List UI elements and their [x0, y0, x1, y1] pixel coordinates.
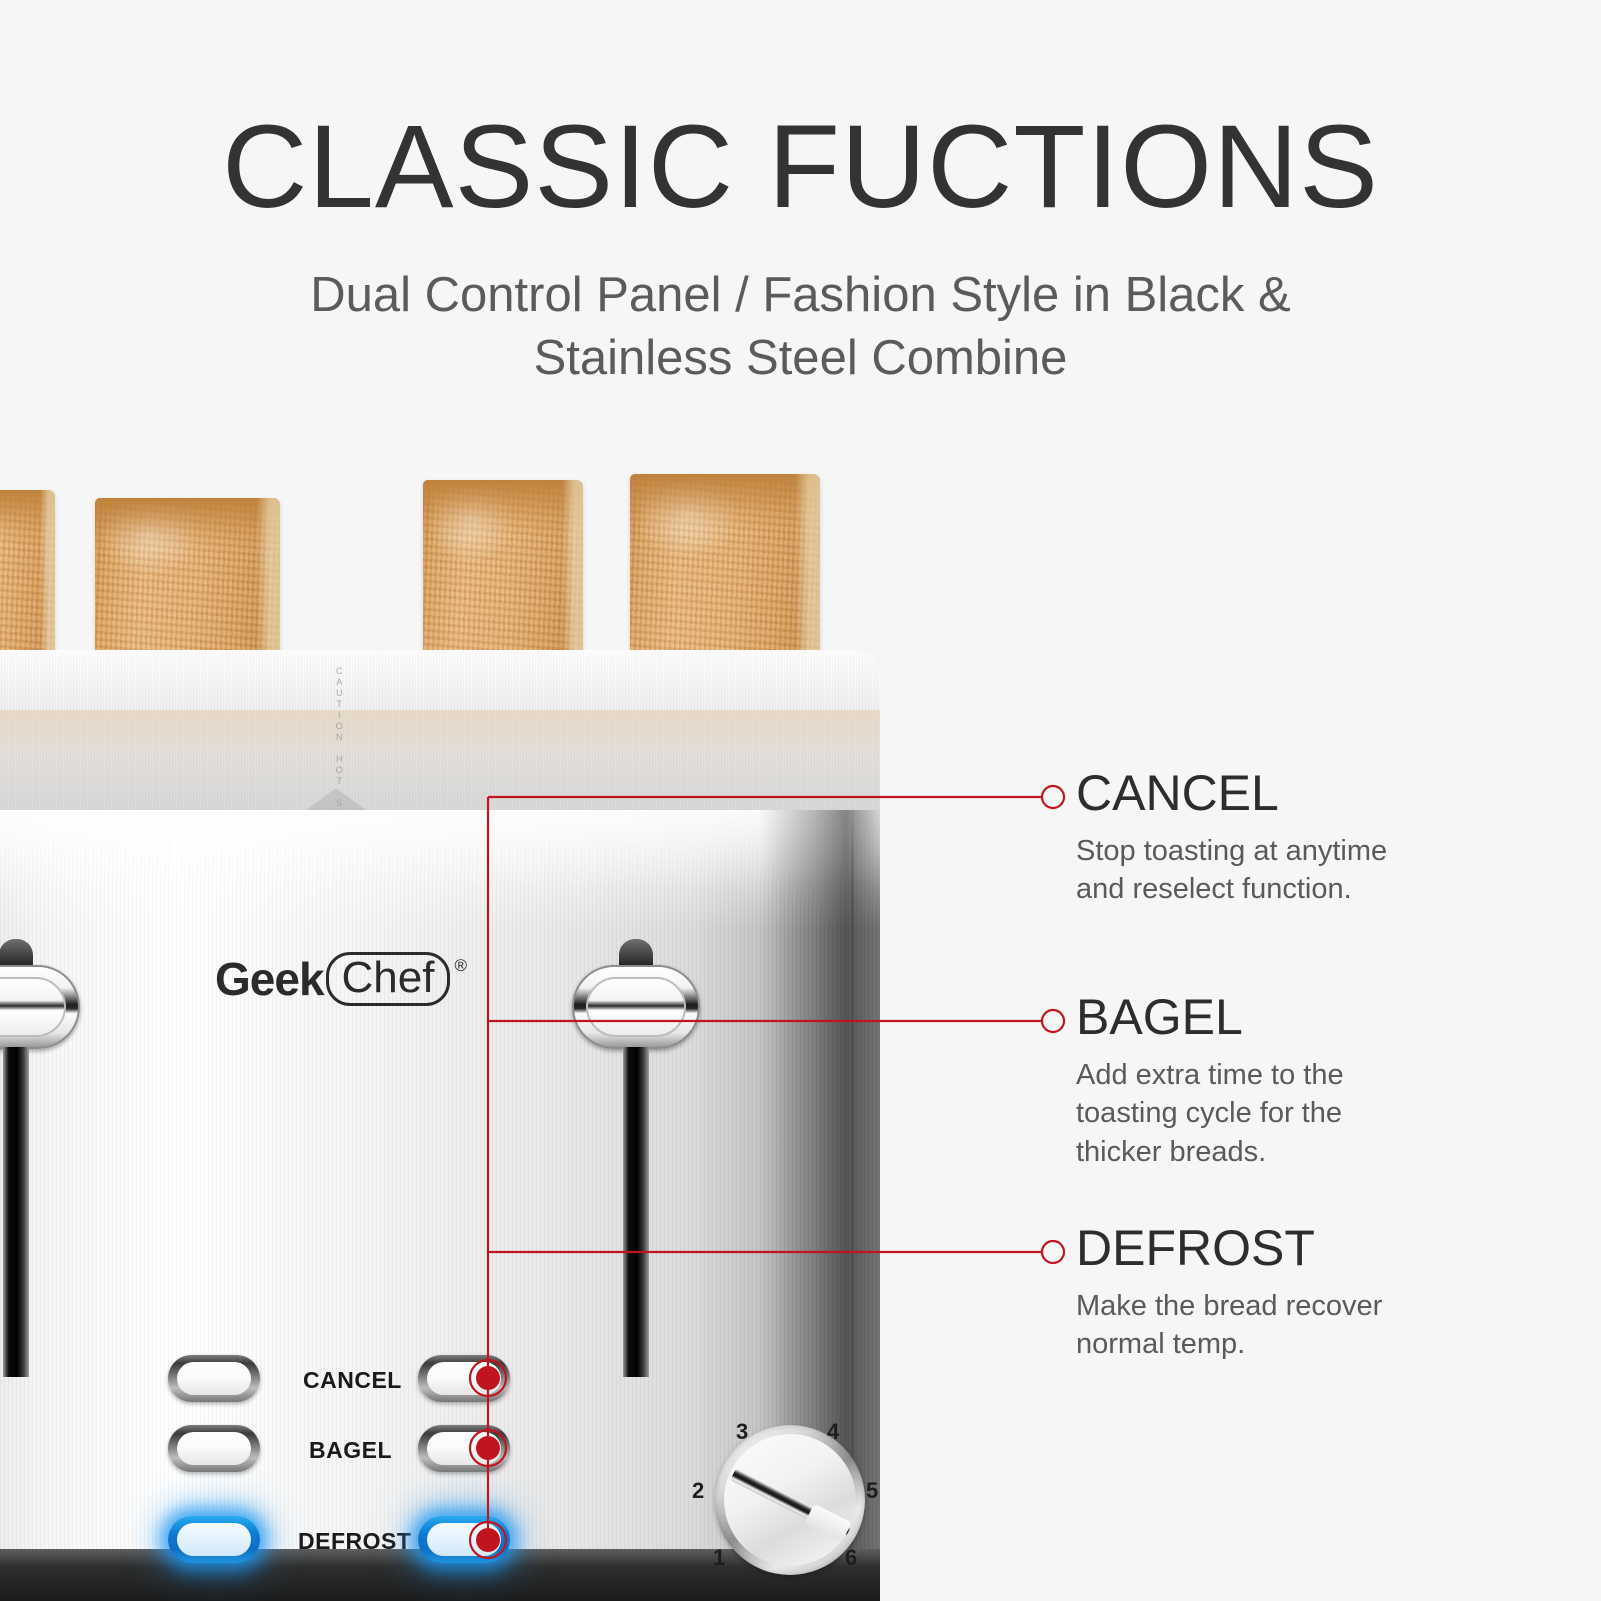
callout-defrost-line-2: normal temp. [1076, 1328, 1245, 1360]
dial-number-4: 4 [827, 1419, 839, 1445]
cancel-button-left[interactable] [168, 1355, 260, 1402]
callout-defrost: DEFROST Make the bread recover normal te… [1076, 1223, 1546, 1364]
brand-logo: Geek Chef ® [215, 952, 467, 1006]
carriage-lever-right[interactable] [572, 965, 700, 1049]
callout-cancel: CANCEL Stop toasting at anytime and rese… [1076, 768, 1546, 909]
lever-knob[interactable] [572, 965, 700, 1049]
bagel-button-left[interactable] [168, 1425, 260, 1472]
subtitle-line-1: Dual Control Panel / Fashion Style in Bl… [0, 264, 1601, 327]
cancel-button-right[interactable] [418, 1355, 510, 1402]
brand-name-box: Chef [326, 952, 451, 1006]
brand-name-secondary: Chef [342, 953, 435, 1002]
brushed-steel-texture [0, 650, 880, 815]
callout-bagel-line-1: Add extra time to the [1076, 1059, 1344, 1091]
defrost-button-left[interactable] [168, 1516, 260, 1563]
toaster-top-plate [0, 650, 880, 815]
callout-defrost-title: DEFROST [1076, 1223, 1546, 1273]
cancel-button-label: CANCEL [303, 1367, 402, 1394]
bagel-button-right[interactable] [418, 1425, 510, 1472]
lever-track [3, 1047, 29, 1377]
bagel-button-label: BAGEL [309, 1437, 392, 1464]
callout-bagel-title: BAGEL [1076, 992, 1546, 1042]
registered-trademark-icon: ® [454, 956, 467, 976]
callout-defrost-description: Make the bread recover normal temp. [1076, 1273, 1546, 1364]
page-title: CLASSIC FUCTIONS [0, 0, 1601, 226]
subtitle-line-2: Stainless Steel Combine [0, 327, 1601, 390]
product-feature-graphic: CLASSIC FUCTIONS Dual Control Panel / Fa… [0, 0, 1601, 1601]
callout-bagel-line-3: thicker breads. [1076, 1136, 1266, 1168]
dial-number-2: 2 [692, 1478, 704, 1504]
callout-bagel-line-2: toasting cycle for the [1076, 1097, 1342, 1129]
dial-number-1: 1 [713, 1545, 725, 1571]
browning-level-dial[interactable] [715, 1425, 865, 1575]
callout-cancel-line-1: Stop toasting at anytime [1076, 835, 1387, 867]
callout-defrost-line-1: Make the bread recover [1076, 1290, 1382, 1322]
defrost-button-label: DEFROST [298, 1528, 411, 1555]
callout-cancel-description: Stop toasting at anytime and reselect fu… [1076, 818, 1546, 909]
callout-cancel-title: CANCEL [1076, 768, 1546, 818]
dial-number-5: 5 [866, 1478, 878, 1504]
callout-bagel-description: Add extra time to the toasting cycle for… [1076, 1042, 1546, 1171]
dial-number-6: 6 [845, 1545, 857, 1571]
brand-name-primary: Geek [215, 956, 324, 1002]
carriage-lever-left[interactable] [0, 965, 80, 1049]
dial-number-3: 3 [736, 1419, 748, 1445]
toaster-product-photo: CAUTION HOT SURFACE ≈ ≈ ≈ [0, 470, 1070, 1601]
defrost-button-right[interactable] [418, 1516, 510, 1563]
callout-cancel-line-2: and reselect function. [1076, 873, 1352, 905]
header: CLASSIC FUCTIONS Dual Control Panel / Fa… [0, 0, 1601, 389]
lever-knob[interactable] [0, 965, 80, 1049]
lever-track [623, 1047, 649, 1377]
panel-top-highlight [0, 810, 880, 930]
callout-bagel: BAGEL Add extra time to the toasting cyc… [1076, 992, 1546, 1171]
page-subtitle: Dual Control Panel / Fashion Style in Bl… [0, 226, 1601, 389]
